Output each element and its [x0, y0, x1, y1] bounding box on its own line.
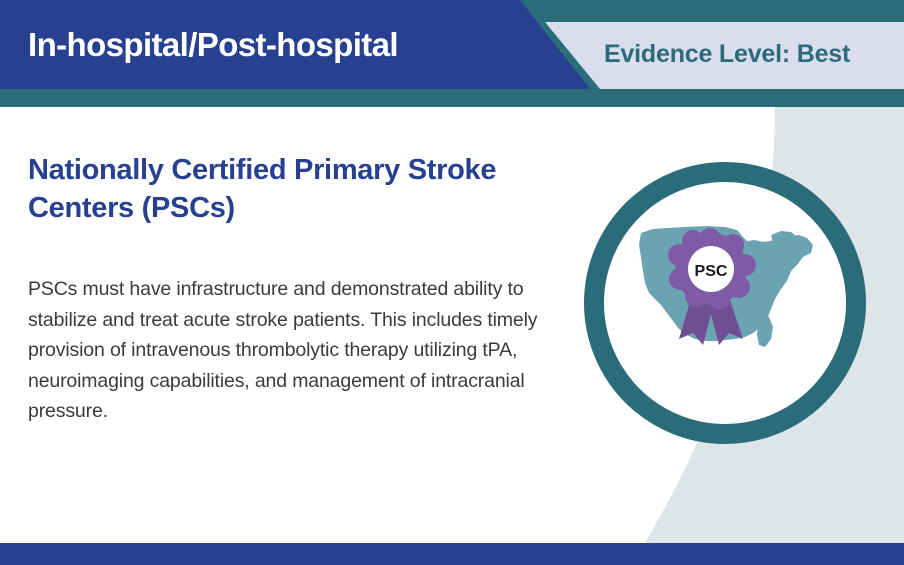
illustration-circle: PSC — [575, 153, 875, 453]
header-banner: In-hospital/Post-hospital Evidence Level… — [0, 0, 904, 107]
page-title: Nationally Certified Primary Stroke Cent… — [28, 151, 548, 227]
header-title: In-hospital/Post-hospital — [28, 25, 548, 65]
evidence-level-badge: Evidence Level: Best — [604, 39, 894, 69]
bottom-bar — [0, 543, 904, 565]
body-paragraph: PSCs must have infrastructure and demons… — [28, 274, 576, 427]
rosette-label: PSC — [695, 263, 728, 280]
infographic-card: In-hospital/Post-hospital Evidence Level… — [0, 0, 904, 565]
